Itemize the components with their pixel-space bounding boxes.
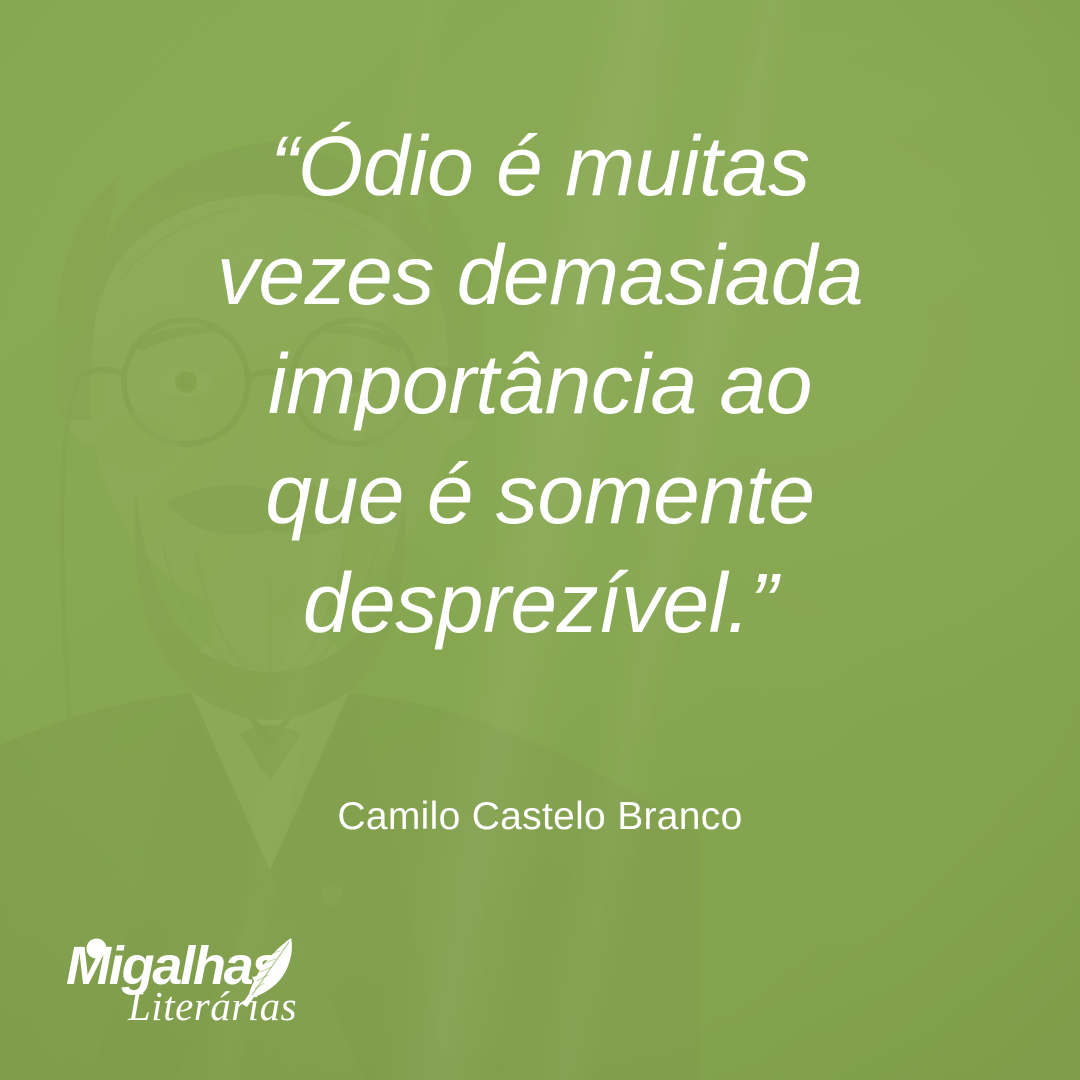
quote-text-block: “Ódio é muitas vezes demasiada importânc…	[130, 112, 950, 658]
author-name: Camilo Castelo Branco	[130, 795, 950, 839]
quote-line-5: desprezível.”	[130, 549, 950, 658]
card-content: “Ódio é muitas vezes demasiada importânc…	[0, 0, 1080, 1080]
logo-svg: Migalhas Literárias	[66, 932, 316, 1024]
logo-subbrand-text: Literárias	[127, 983, 297, 1024]
quote-line-4: que é somente	[130, 440, 950, 549]
migalhas-literarias-logo[interactable]: Migalhas Literárias	[66, 932, 316, 1024]
logo-i-dot-icon	[87, 939, 107, 959]
quote-card: “Ódio é muitas vezes demasiada importânc…	[0, 0, 1080, 1080]
quote-line-3: importância ao	[130, 330, 950, 439]
quote-line-1: “Ódio é muitas	[130, 112, 950, 221]
quote-line-2: vezes demasiada	[130, 221, 950, 330]
